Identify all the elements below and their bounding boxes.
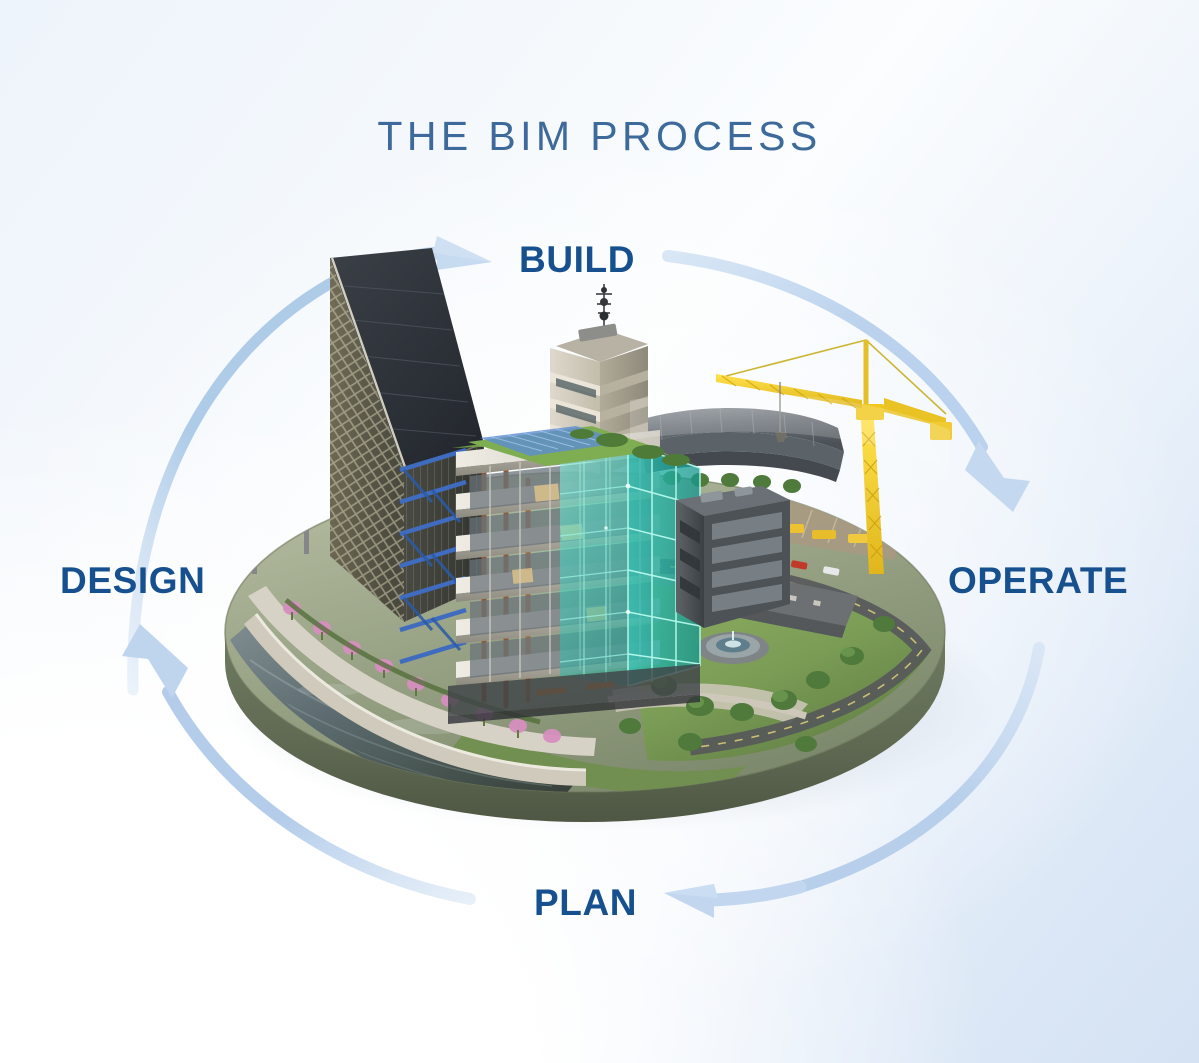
stage-label-operate[interactable]: OPERATE <box>948 560 1128 602</box>
stage-label-design[interactable]: DESIGN <box>60 560 205 602</box>
stage-label-build[interactable]: BUILD <box>519 239 635 281</box>
stage-label-plan[interactable]: PLAN <box>534 882 637 924</box>
page-title: THE BIM PROCESS <box>0 113 1199 160</box>
bim-process-diagram: THE BIM PROCESS BUILD OPERATE PLAN DESIG… <box>0 0 1199 1063</box>
office-block <box>676 486 790 628</box>
